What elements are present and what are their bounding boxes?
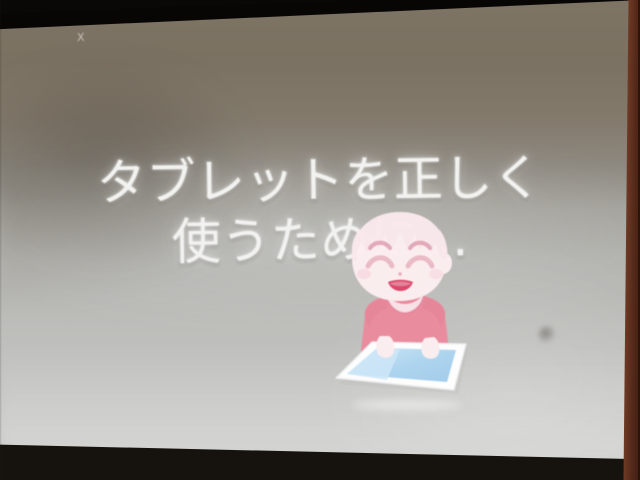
surface-bright-band	[0, 342, 640, 462]
slide-title: タブレットを正しく 使うために…	[0, 80, 640, 342]
slide-title-line-2: 使うために…	[0, 205, 640, 277]
slide-title-line-1: タブレットを正しく	[97, 149, 543, 211]
child-head	[352, 212, 452, 301]
screen-dust-spot	[538, 326, 555, 343]
screenshot-root: タブレットを正しく 使うために… X	[0, 0, 640, 480]
screen-edge-left	[0, 0, 2, 480]
child-using-tablet-illustration	[330, 208, 480, 408]
close-icon: X	[77, 31, 85, 44]
tablet-device	[336, 342, 468, 394]
